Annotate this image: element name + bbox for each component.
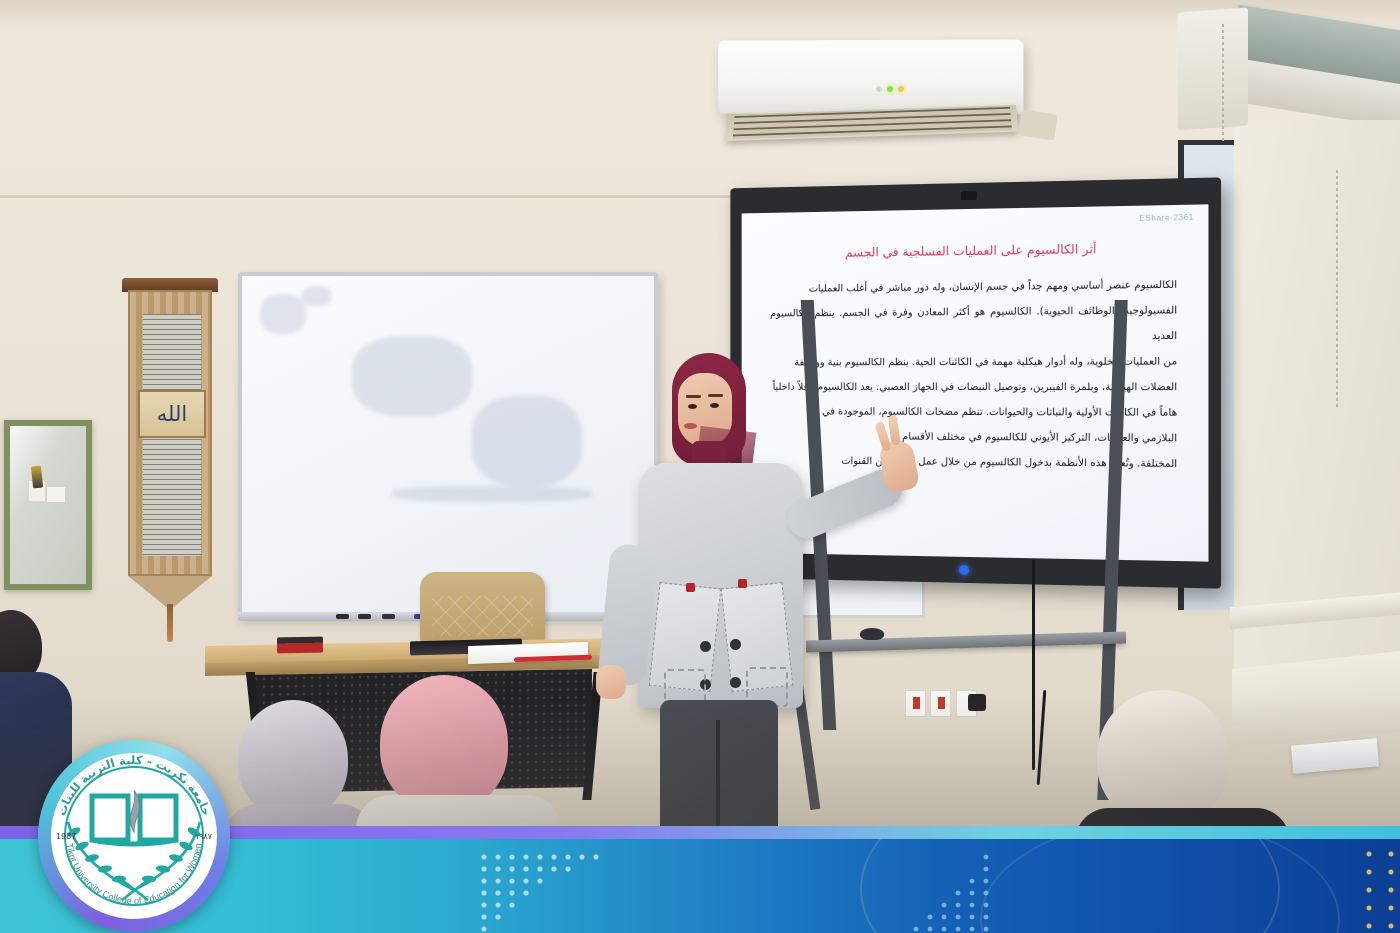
- marker-black-3: [382, 614, 395, 619]
- tapestry-tassel: [167, 604, 173, 642]
- tapestry-allah-medallion: الله: [138, 390, 206, 438]
- mirror-hook: [31, 466, 43, 489]
- air-conditioner[interactable]: [718, 40, 1023, 115]
- display-camera-icon: [961, 191, 977, 200]
- chair[interactable]: [420, 572, 545, 644]
- slide-line: الكالسيوم عنصر أساسي ومهم جداً في جسم ال…: [770, 274, 1177, 303]
- dot-pattern-left: [478, 847, 608, 933]
- logo-year-arabic: ١٩٨٧: [195, 832, 212, 841]
- marker-black: [336, 614, 349, 619]
- ac-status-leds: [876, 86, 904, 92]
- slide-title: أثر الكالسيوم على العمليات الفسلجية في ا…: [770, 240, 1177, 261]
- college-logo: جامعة تكريت - كلية التربية للبنات Tikrit…: [38, 740, 230, 932]
- whiteboard-eraser[interactable]: [277, 637, 323, 654]
- islamic-tapestry: الله: [128, 278, 212, 618]
- whiteboard: [238, 272, 658, 617]
- mirror-reflected-socket: [46, 486, 66, 503]
- mirror: [4, 420, 92, 590]
- lecturer-mouth: [684, 423, 697, 429]
- dot-pattern-right: [1354, 839, 1400, 933]
- ac-pipe: [1018, 110, 1057, 141]
- marker-black-2: [358, 614, 371, 619]
- display-power-led: [959, 565, 969, 575]
- tapestry-body: الله: [128, 290, 212, 576]
- screenshot-root: الله: [0, 0, 1400, 933]
- classroom-photo: الله: [0, 0, 1400, 845]
- blind-chain-left[interactable]: [1222, 24, 1224, 144]
- lecturer-hand-on-desk: [596, 665, 626, 699]
- blind-chain-right[interactable]: [1336, 170, 1338, 410]
- dot-pattern-middle: [910, 847, 1040, 933]
- lecturer-coat: [638, 463, 803, 708]
- wall-seam: [0, 195, 760, 198]
- roller-blind-housing: [1178, 8, 1248, 131]
- logo-year-latin: 1987: [56, 832, 76, 841]
- laurel-wreath-icon: [52, 818, 216, 904]
